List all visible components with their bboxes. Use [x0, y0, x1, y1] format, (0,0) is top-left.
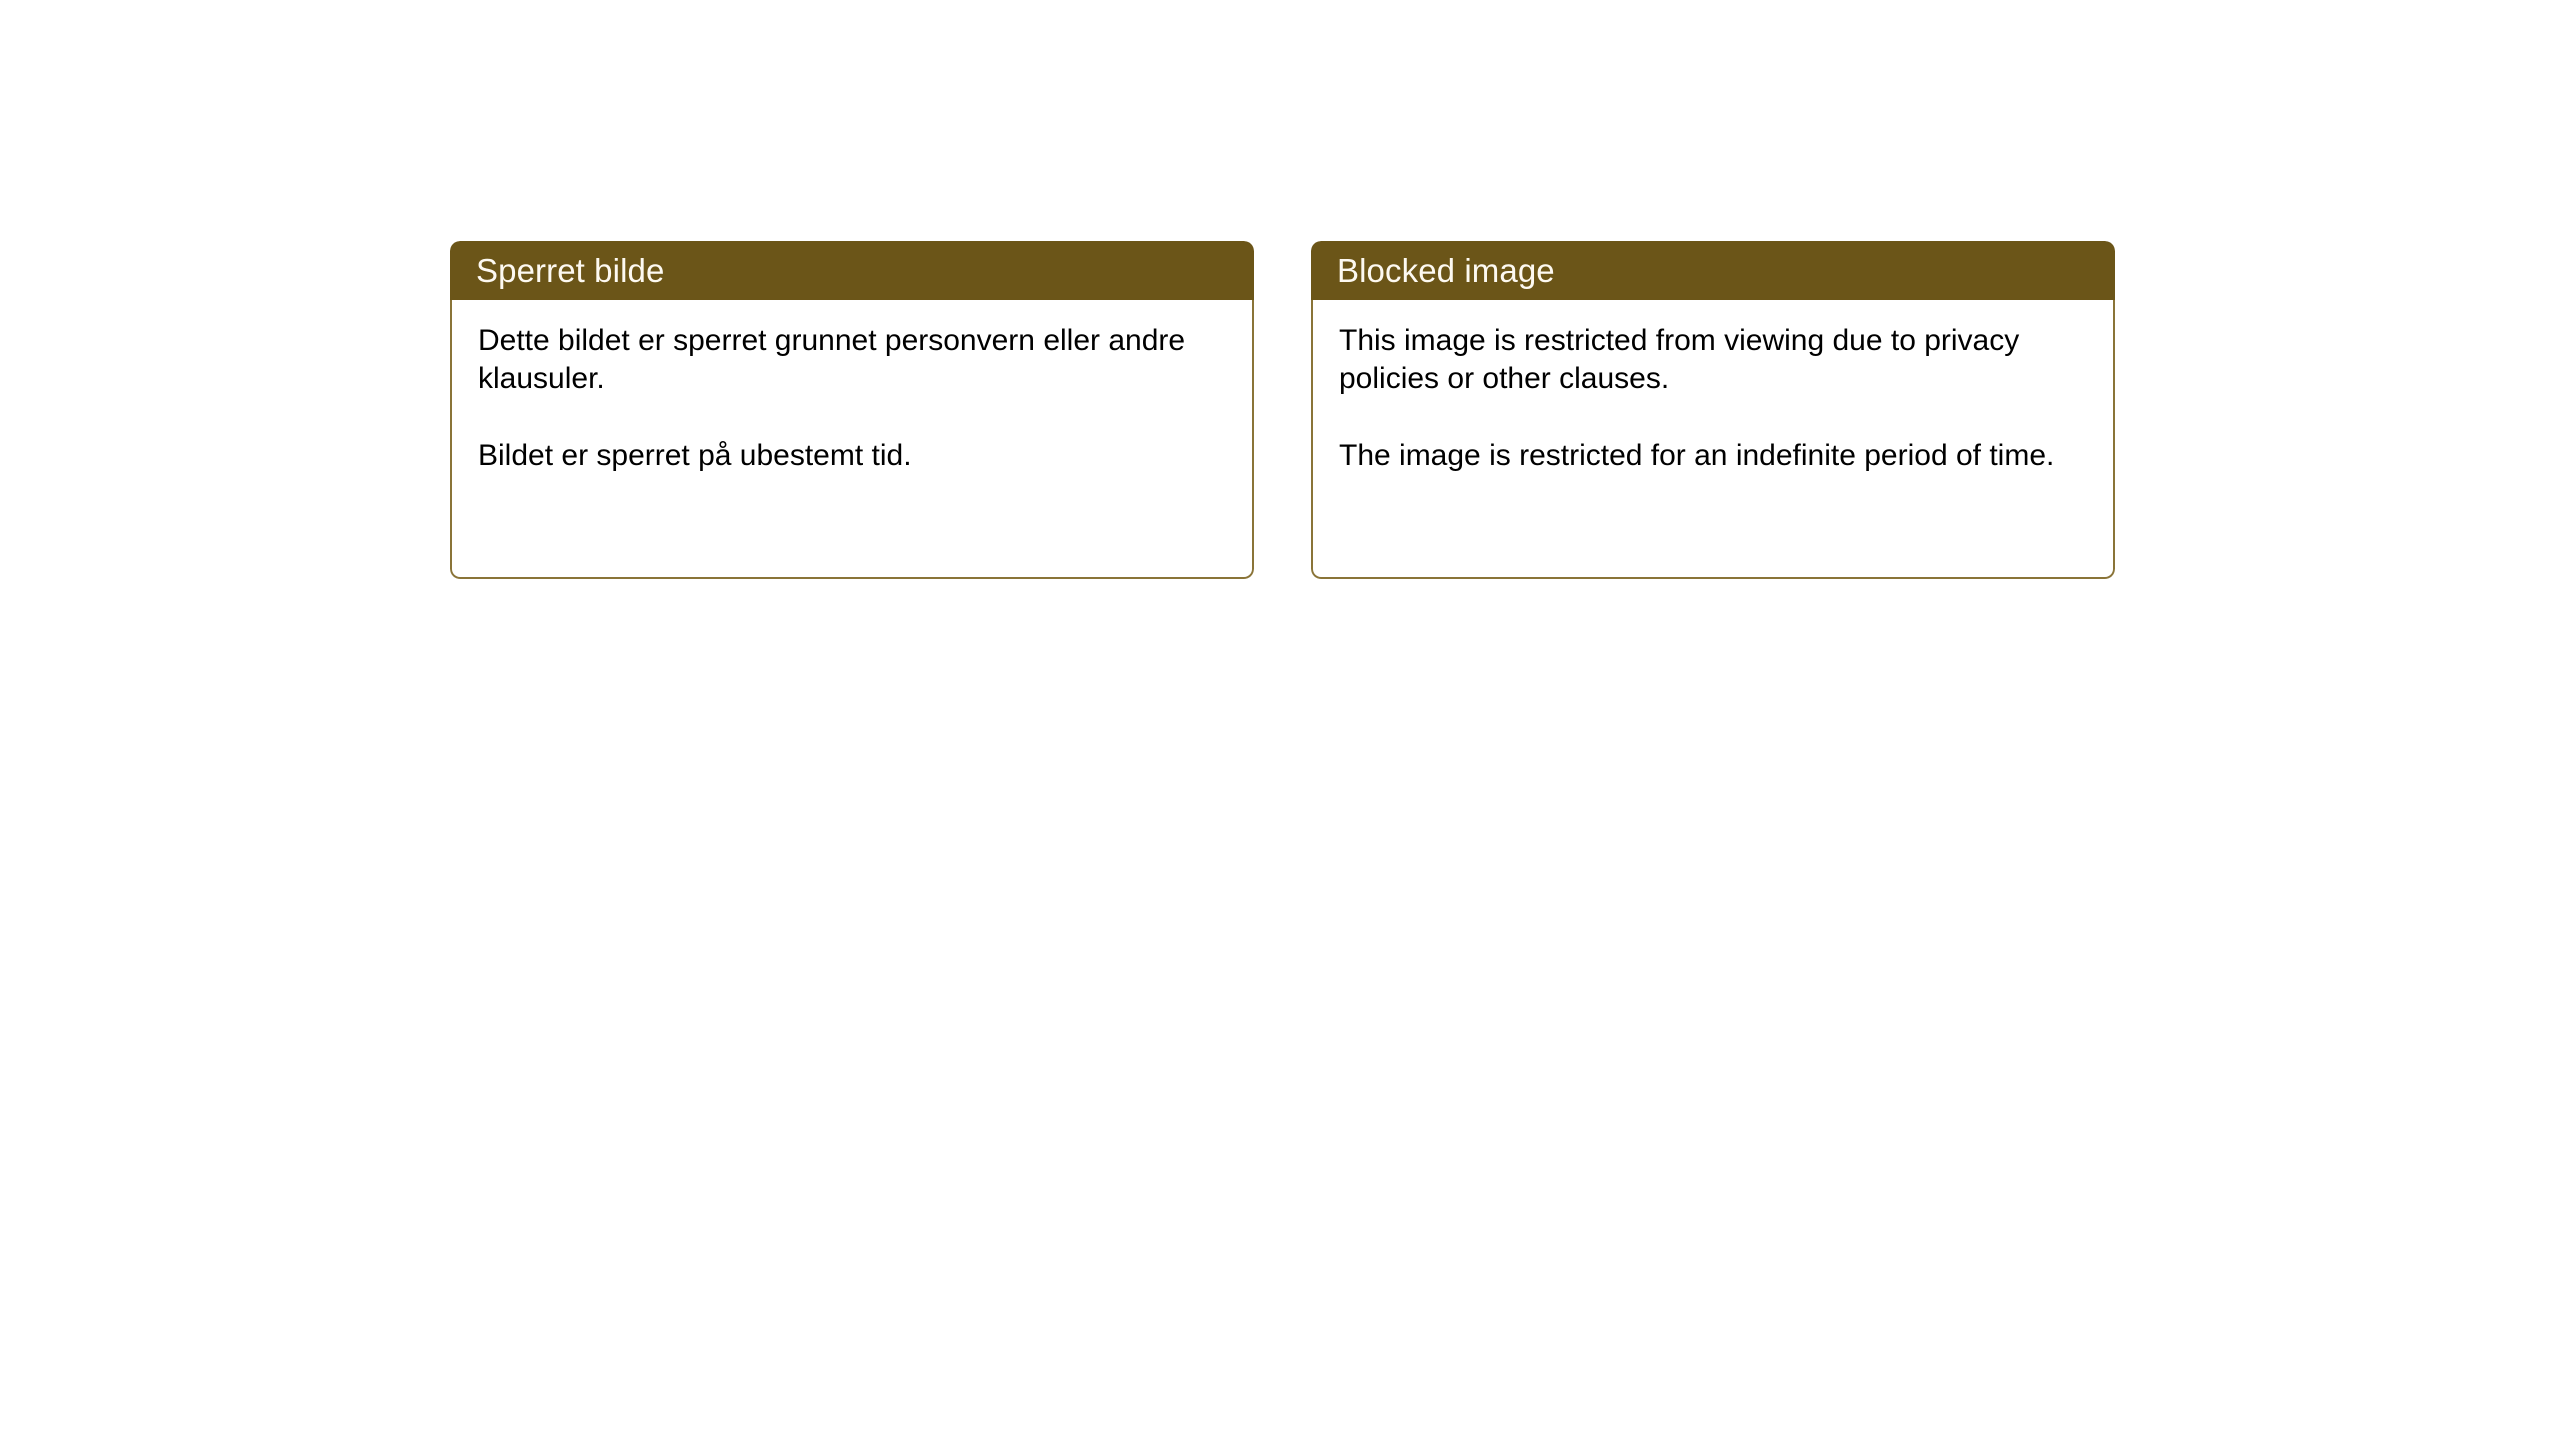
notice-body-norwegian: Dette bildet er sperret grunnet personve…: [450, 300, 1254, 579]
notice-paragraph-secondary-english: The image is restricted for an indefinit…: [1339, 437, 2087, 475]
notice-paragraph-secondary-norwegian: Bildet er sperret på ubestemt tid.: [478, 437, 1226, 475]
notice-body-english: This image is restricted from viewing du…: [1311, 300, 2115, 579]
notice-header-norwegian: Sperret bilde: [450, 241, 1254, 300]
notice-title-english: Blocked image: [1337, 254, 1555, 287]
notice-title-norwegian: Sperret bilde: [476, 254, 664, 287]
notice-paragraph-primary-english: This image is restricted from viewing du…: [1339, 322, 2087, 399]
page-canvas: Sperret bilde Dette bildet er sperret gr…: [0, 0, 2560, 1440]
notice-paragraph-primary-norwegian: Dette bildet er sperret grunnet personve…: [478, 322, 1226, 399]
blocked-image-notice-english: Blocked image This image is restricted f…: [1311, 241, 2115, 579]
notice-header-english: Blocked image: [1311, 241, 2115, 300]
blocked-image-notice-norwegian: Sperret bilde Dette bildet er sperret gr…: [450, 241, 1254, 579]
